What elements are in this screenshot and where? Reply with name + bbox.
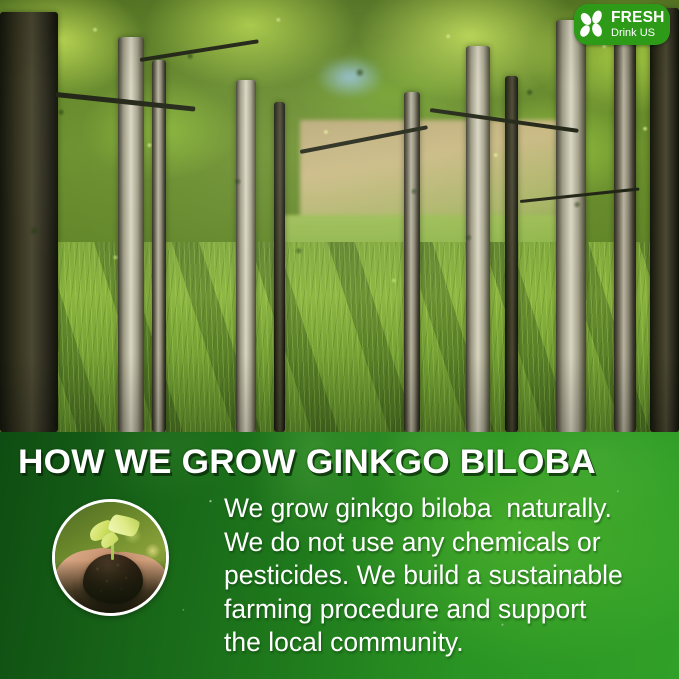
description-line: We do not use any chemicals or xyxy=(224,526,672,560)
hands-holding-seedling-photo xyxy=(52,499,169,616)
description-text: We grow ginkgo biloba naturally. We do n… xyxy=(224,492,672,660)
description-line: the local community. xyxy=(224,626,672,660)
description-line: pesticides. We build a sustainable xyxy=(224,559,672,593)
logo-wordmark: FRESH Drink US xyxy=(611,10,665,39)
forest-grove-photo xyxy=(0,0,679,432)
logo-line-drink-us: Drink US xyxy=(611,28,665,39)
photo-lighting-overlay xyxy=(0,0,679,432)
fresh-drink-us-logo[interactable]: FRESH Drink US xyxy=(574,4,670,45)
product-infographic: FRESH Drink US HOW WE GROW GINKGO BILOBA… xyxy=(0,0,679,679)
page-title: HOW WE GROW GINKGO BILOBA xyxy=(18,443,679,482)
seedling-photo-shadow xyxy=(52,560,169,616)
logo-line-fresh: FRESH xyxy=(611,10,665,26)
description-line: farming procedure and support xyxy=(224,593,672,627)
three-leaf-cluster-icon xyxy=(578,9,608,41)
description-line: We grow ginkgo biloba naturally. xyxy=(224,492,672,526)
